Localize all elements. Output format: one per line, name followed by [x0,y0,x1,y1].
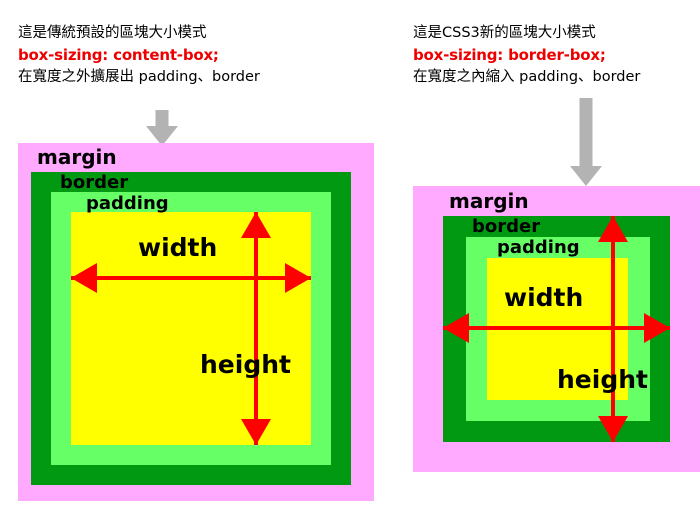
measure-label-width-right: width [504,285,583,310]
label-padding-right: padding [497,239,580,257]
caption-line-3: 在寬度之外擴展出 padding、border [18,66,260,88]
diagram-content-box: margin border padding width height [18,143,374,501]
caption-line-code: box-sizing: border-box; [413,44,640,66]
caption-line-code: box-sizing: content-box; [18,44,260,66]
label-margin-left: margin [37,147,117,167]
caption-line-3: 在寬度之內縮入 padding、border [413,66,640,88]
label-border-left: border [60,174,128,192]
label-margin-right: margin [449,191,529,211]
label-padding-left: padding [86,195,169,213]
caption-border-box: 這是CSS3新的區塊大小模式 box-sizing: border-box; 在… [413,22,640,88]
measure-width-left [71,262,311,294]
caption-content-box: 這是傳統預設的區塊大小模式 box-sizing: content-box; 在… [18,22,260,88]
box-sizing-comparison-diagram: 這是傳統預設的區塊大小模式 box-sizing: content-box; 在… [0,0,700,514]
measure-width-right [443,312,670,344]
measure-height-left [240,212,272,445]
down-arrow-icon-right [570,98,602,186]
caption-line-1: 這是傳統預設的區塊大小模式 [18,22,260,44]
label-border-right: border [472,218,540,236]
measure-label-height-left: height [200,352,291,377]
down-arrow-icon-left [146,110,178,146]
measure-height-right [597,216,629,442]
measure-label-width-left: width [138,235,217,260]
diagram-border-box: margin border padding width height [413,186,700,472]
measure-label-height-right: height [557,367,648,392]
caption-line-1: 這是CSS3新的區塊大小模式 [413,22,640,44]
